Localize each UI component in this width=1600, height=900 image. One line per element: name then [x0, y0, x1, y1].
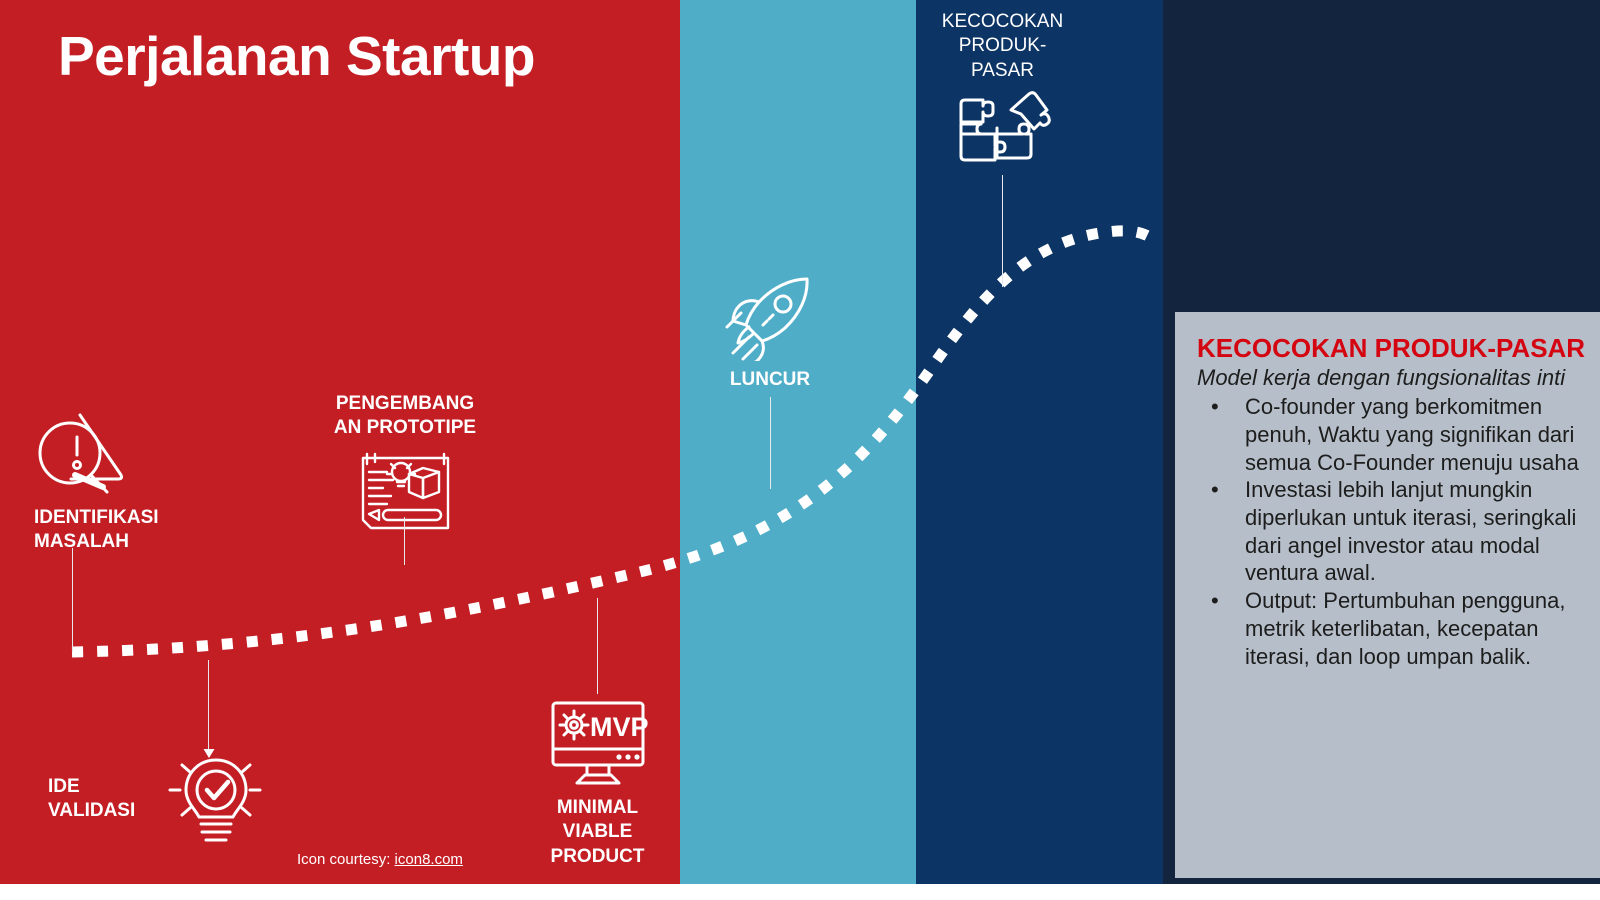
lightbulb-check-icon — [158, 752, 273, 852]
icon-credit: Icon courtesy: icon8.com — [297, 851, 463, 868]
list-item-text: Co-founder yang berkomitmen penuh, Waktu… — [1245, 394, 1579, 474]
stage-label-ide-validasi: IDE VALIDASI — [48, 775, 148, 824]
list-item: • Investasi lebih lanjut mungkin diperlu… — [1197, 476, 1592, 587]
list-item-text: Output: Pertumbuhan pengguna, metrik ket… — [1245, 588, 1565, 668]
bullet-icon: • — [1211, 587, 1219, 615]
icon-credit-link[interactable]: icon8.com — [395, 851, 463, 868]
svg-text:MVP: MVP — [590, 712, 649, 742]
magnifier-warning-icon — [28, 405, 138, 500]
stage-kecocokan-produk-pasar[interactable]: KECOCOKAN PRODUK- PASAR — [920, 10, 1085, 169]
list-item: • Output: Pertumbuhan pengguna, metrik k… — [1197, 587, 1592, 670]
icon-credit-prefix: Icon courtesy: — [297, 851, 395, 868]
prototype-blueprint-icon — [310, 441, 500, 536]
stage-identifikasi-masalah[interactable]: IDENTIFIKASI MASALAH — [28, 405, 208, 555]
stage-label-minimal-viable-product: MINIMAL VIABLE PRODUCT — [505, 790, 690, 869]
connector-stem-luncur — [770, 397, 771, 489]
info-panel-bullet-list: • Co-founder yang berkomitmen penuh, Wak… — [1197, 393, 1592, 670]
connector-stem-identifikasi — [72, 548, 73, 652]
band-light-blue — [680, 0, 916, 884]
stage-pengembangan-prototipe[interactable]: PENGEMBANG AN PROTOTIPE — [310, 392, 500, 536]
connector-stem-pengembangan — [404, 517, 405, 565]
bullet-icon: • — [1211, 393, 1219, 421]
stage-minimal-viable-product[interactable]: MVP MINIMAL VIABLE PRODUCT — [505, 598, 690, 869]
stage-label-identifikasi-masalah: IDENTIFIKASI MASALAH — [28, 500, 208, 555]
bullet-icon: • — [1211, 476, 1219, 504]
puzzle-pieces-icon — [920, 83, 1085, 169]
info-panel-subtitle: Model kerja dengan fungsionalitas inti — [1197, 365, 1592, 391]
connector-stem-ide-validasi — [208, 660, 209, 752]
rocket-icon — [690, 272, 850, 364]
info-panel-title: KECOCOKAN PRODUK-PASAR — [1197, 334, 1592, 363]
stage-luncur[interactable]: LUNCUR — [690, 272, 850, 392]
stage-label-pengembangan-prototipe: PENGEMBANG AN PROTOTIPE — [310, 392, 500, 441]
connector-stem-kecocokan — [1002, 175, 1003, 287]
connector-stem-mvp — [597, 598, 598, 694]
list-item: • Co-founder yang berkomitmen penuh, Wak… — [1197, 393, 1592, 476]
stage-label-luncur: LUNCUR — [690, 364, 850, 392]
page-title: Perjalanan Startup — [58, 26, 535, 87]
info-panel-kecocokan-produk-pasar: KECOCOKAN PRODUK-PASAR Model kerja denga… — [1175, 312, 1600, 878]
infographic-canvas: Perjalanan Startup IDENTIFIKASI MASALAH — [0, 0, 1600, 900]
stage-label-kecocokan-produk-pasar: KECOCOKAN PRODUK- PASAR — [920, 10, 1085, 83]
list-item-text: Investasi lebih lanjut mungkin diperluka… — [1245, 477, 1576, 585]
